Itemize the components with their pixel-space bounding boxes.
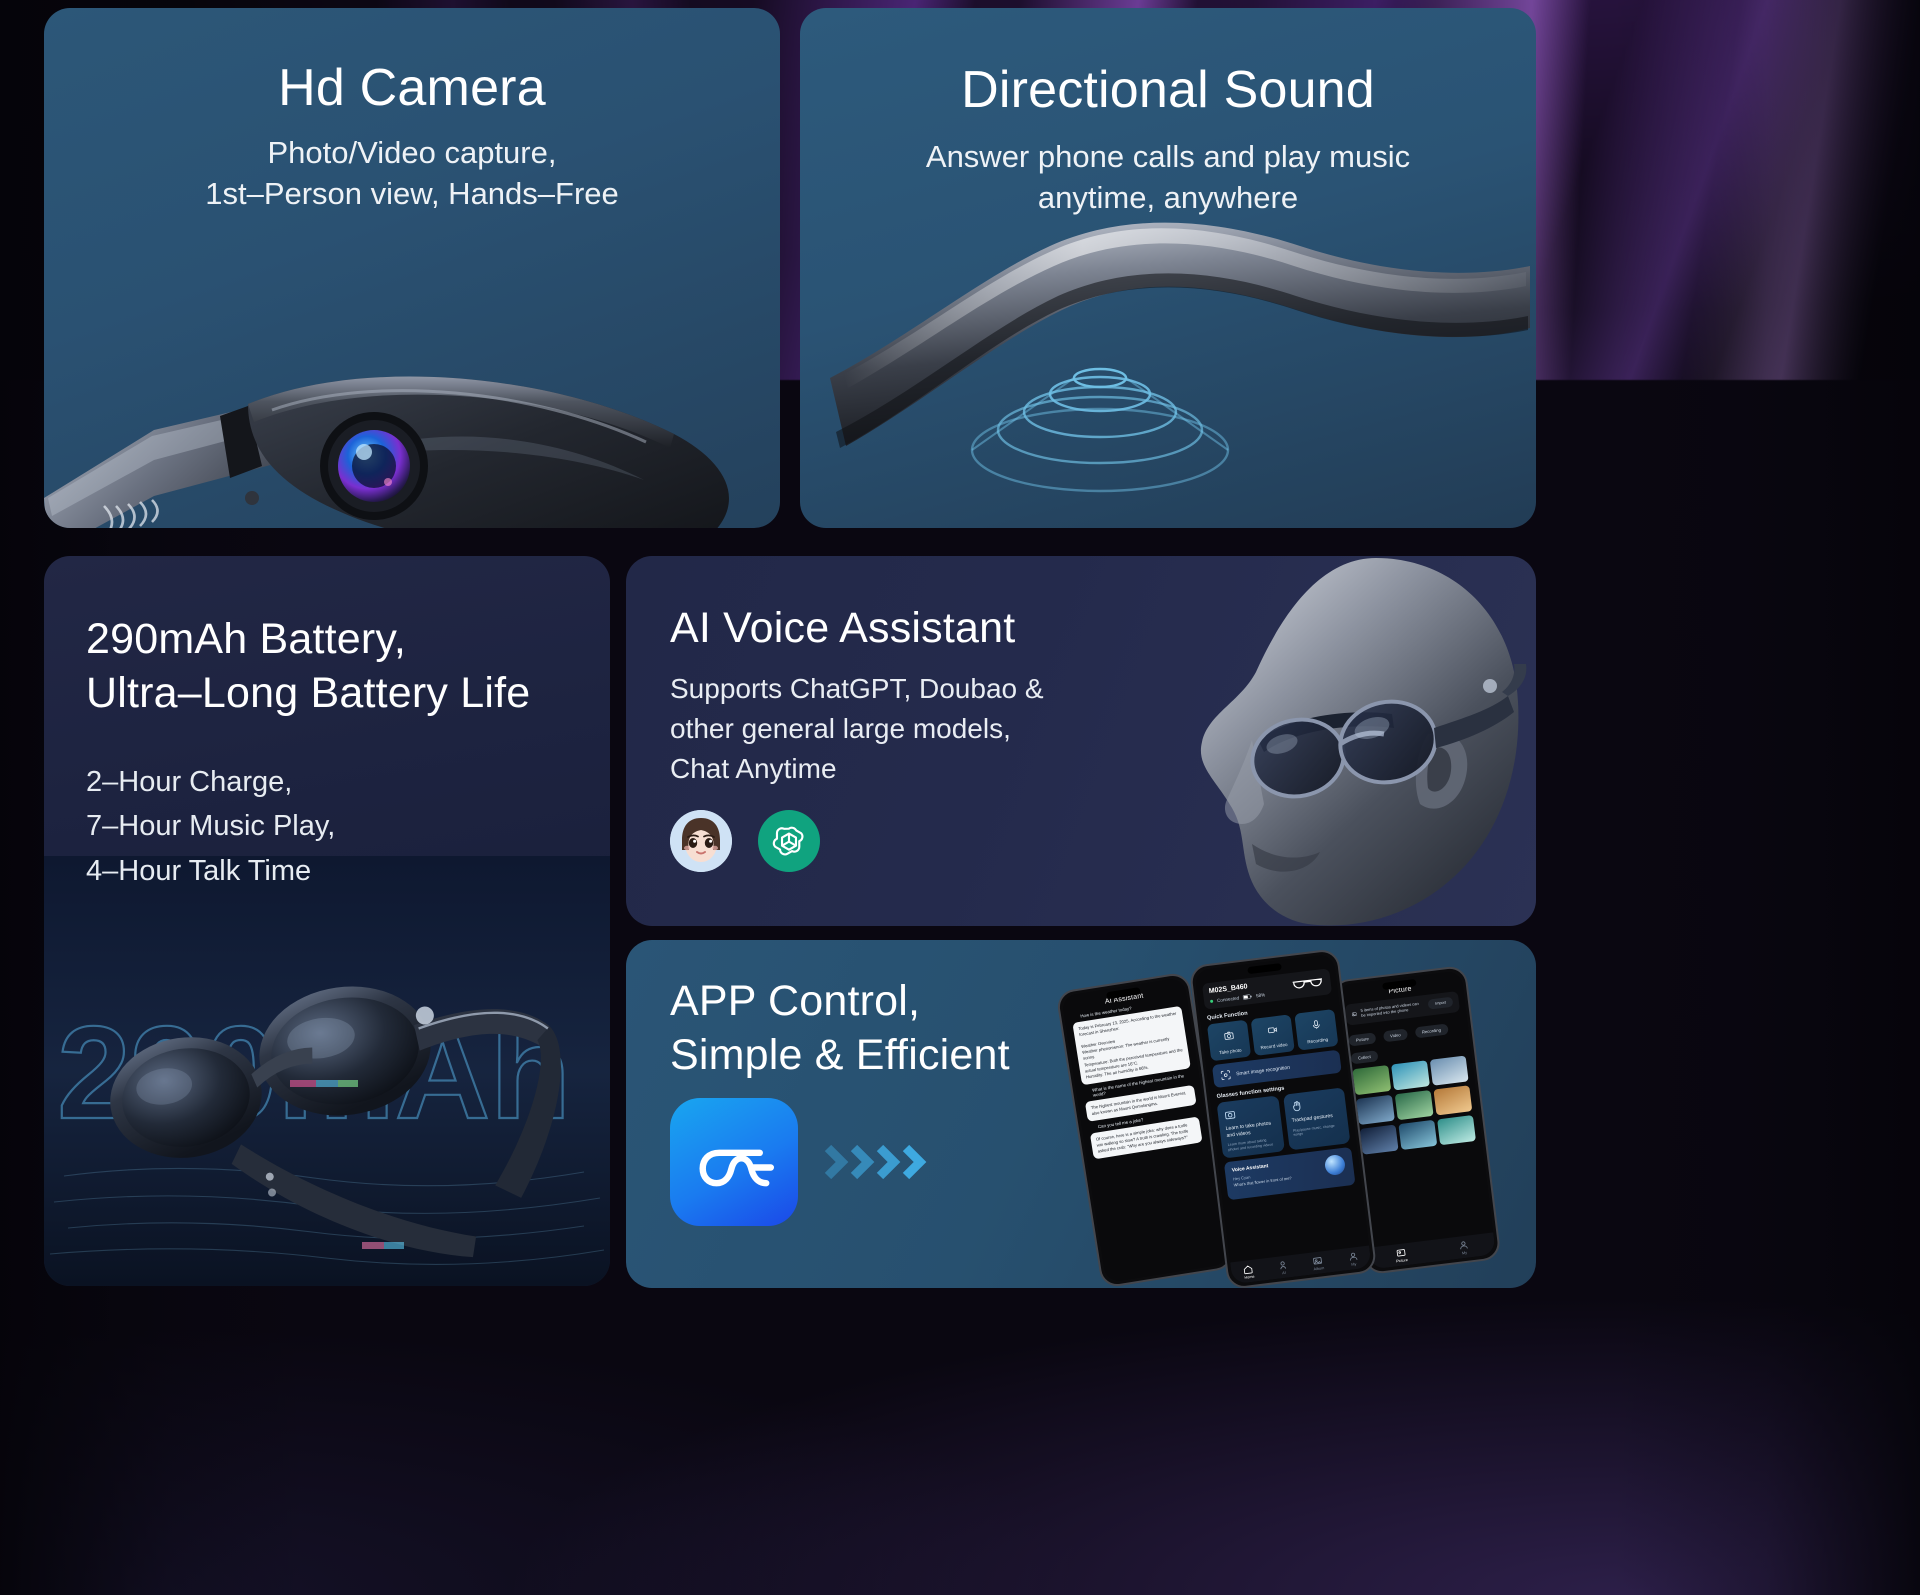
nav-item-my[interactable]: My (1347, 1250, 1359, 1266)
panel-battery: 290mAh Battery, Ultra–Long Battery Life … (44, 556, 610, 1286)
ai-voice-subtitle-line3: Chat Anytime (670, 749, 1106, 789)
panel-directional-sound: Directional Sound Answer phone calls and… (800, 8, 1536, 528)
hd-camera-subtitle-line1: Photo/Video capture, (44, 132, 780, 173)
hd-camera-subtitle: Photo/Video capture, 1st–Person view, Ha… (44, 132, 780, 214)
ai-voice-title: AI Voice Assistant (670, 604, 1106, 653)
directional-sound-title: Directional Sound (800, 60, 1536, 120)
nav-item-my[interactable]: My (1458, 1239, 1470, 1255)
panel-app-control: APP Control, Simple & Efficient (626, 940, 1536, 1288)
directional-sound-subtitle-line1: Answer phone calls and play music (800, 136, 1536, 177)
nav-label: My (1349, 1261, 1359, 1266)
picture-nav-bar: Picture My (1368, 1232, 1496, 1269)
nav-item-picture[interactable]: Picture (1394, 1247, 1408, 1263)
battery-title: 290mAh Battery, Ultra–Long Battery Life (86, 612, 610, 720)
ai-voice-subtitle-line2: other general large models, (670, 709, 1106, 749)
battery-bullet: 4–Hour Talk Time (86, 849, 610, 893)
glasses-app-icon[interactable] (670, 1098, 798, 1226)
smart-glasses-camera-photo (44, 198, 780, 528)
app-flow-row (670, 1098, 1536, 1226)
app-control-text-block: APP Control, Simple & Efficient (626, 940, 1536, 1226)
directional-sound-subtitle-line2: anytime, anywhere (800, 177, 1536, 218)
battery-title-line1: 290mAh Battery, (86, 612, 610, 666)
app-control-title: APP Control, Simple & Efficient (670, 974, 1536, 1082)
ai-voice-subtitle: Supports ChatGPT, Doubao & other general… (670, 669, 1106, 788)
doubao-avatar-icon (670, 810, 732, 872)
ai-voice-subtitle-line1: Supports ChatGPT, Doubao & (670, 669, 1106, 709)
directional-sound-subtitle: Answer phone calls and play music anytim… (800, 136, 1536, 218)
nav-item-home[interactable]: Home (1243, 1263, 1255, 1279)
person-icon (1347, 1250, 1358, 1261)
album-icon (1312, 1255, 1323, 1266)
chevron-right-arrows (822, 1140, 940, 1184)
folded-glasses-product-photo: 290mAh (44, 856, 610, 1286)
nav-label: Picture (1396, 1258, 1408, 1263)
home-icon (1243, 1263, 1254, 1274)
battery-text-block: 290mAh Battery, Ultra–Long Battery Life … (44, 556, 610, 893)
nav-label: AI (1279, 1270, 1289, 1275)
battery-bullet-list: 2–Hour Charge, 7–Hour Music Play, 4–Hour… (86, 760, 610, 892)
battery-title-line2: Ultra–Long Battery Life (86, 666, 610, 720)
chatgpt-logo-icon (758, 810, 820, 872)
ai-voice-text-block: AI Voice Assistant Supports ChatGPT, Dou… (626, 556, 1106, 872)
panel-hd-camera: Hd Camera Photo/Video capture, 1st–Perso… (44, 8, 780, 528)
directional-sound-text-block: Directional Sound Answer phone calls and… (800, 8, 1536, 218)
hd-camera-text-block: Hd Camera Photo/Video capture, 1st–Perso… (44, 8, 780, 214)
hd-camera-subtitle-line2: 1st–Person view, Hands–Free (44, 173, 780, 214)
nav-label: Album (1313, 1266, 1324, 1271)
person-icon (1458, 1239, 1469, 1250)
hd-camera-title: Hd Camera (44, 58, 780, 118)
nav-item-ai[interactable]: AI (1277, 1259, 1289, 1275)
battery-bullet: 2–Hour Charge, (86, 760, 610, 804)
app-control-title-line2: Simple & Efficient (670, 1028, 1536, 1082)
nav-label: Home (1244, 1274, 1255, 1279)
mannequin-head-wearing-glasses-photo (1076, 556, 1536, 926)
nav-label: My (1459, 1250, 1469, 1255)
ai-sparkle-icon (1277, 1259, 1288, 1270)
nav-item-album[interactable]: Album (1312, 1255, 1325, 1271)
panel-ai-voice-assistant: AI Voice Assistant Supports ChatGPT, Dou… (626, 556, 1536, 926)
battery-bullet: 7–Hour Music Play, (86, 804, 610, 848)
photo-icon (1395, 1247, 1406, 1258)
home-nav-bar: Home AI Album (1230, 1245, 1372, 1284)
glasses-temple-speaker-photo (800, 168, 1536, 528)
ai-voice-logo-row (670, 810, 1106, 872)
app-control-title-line1: APP Control, (670, 974, 1536, 1028)
